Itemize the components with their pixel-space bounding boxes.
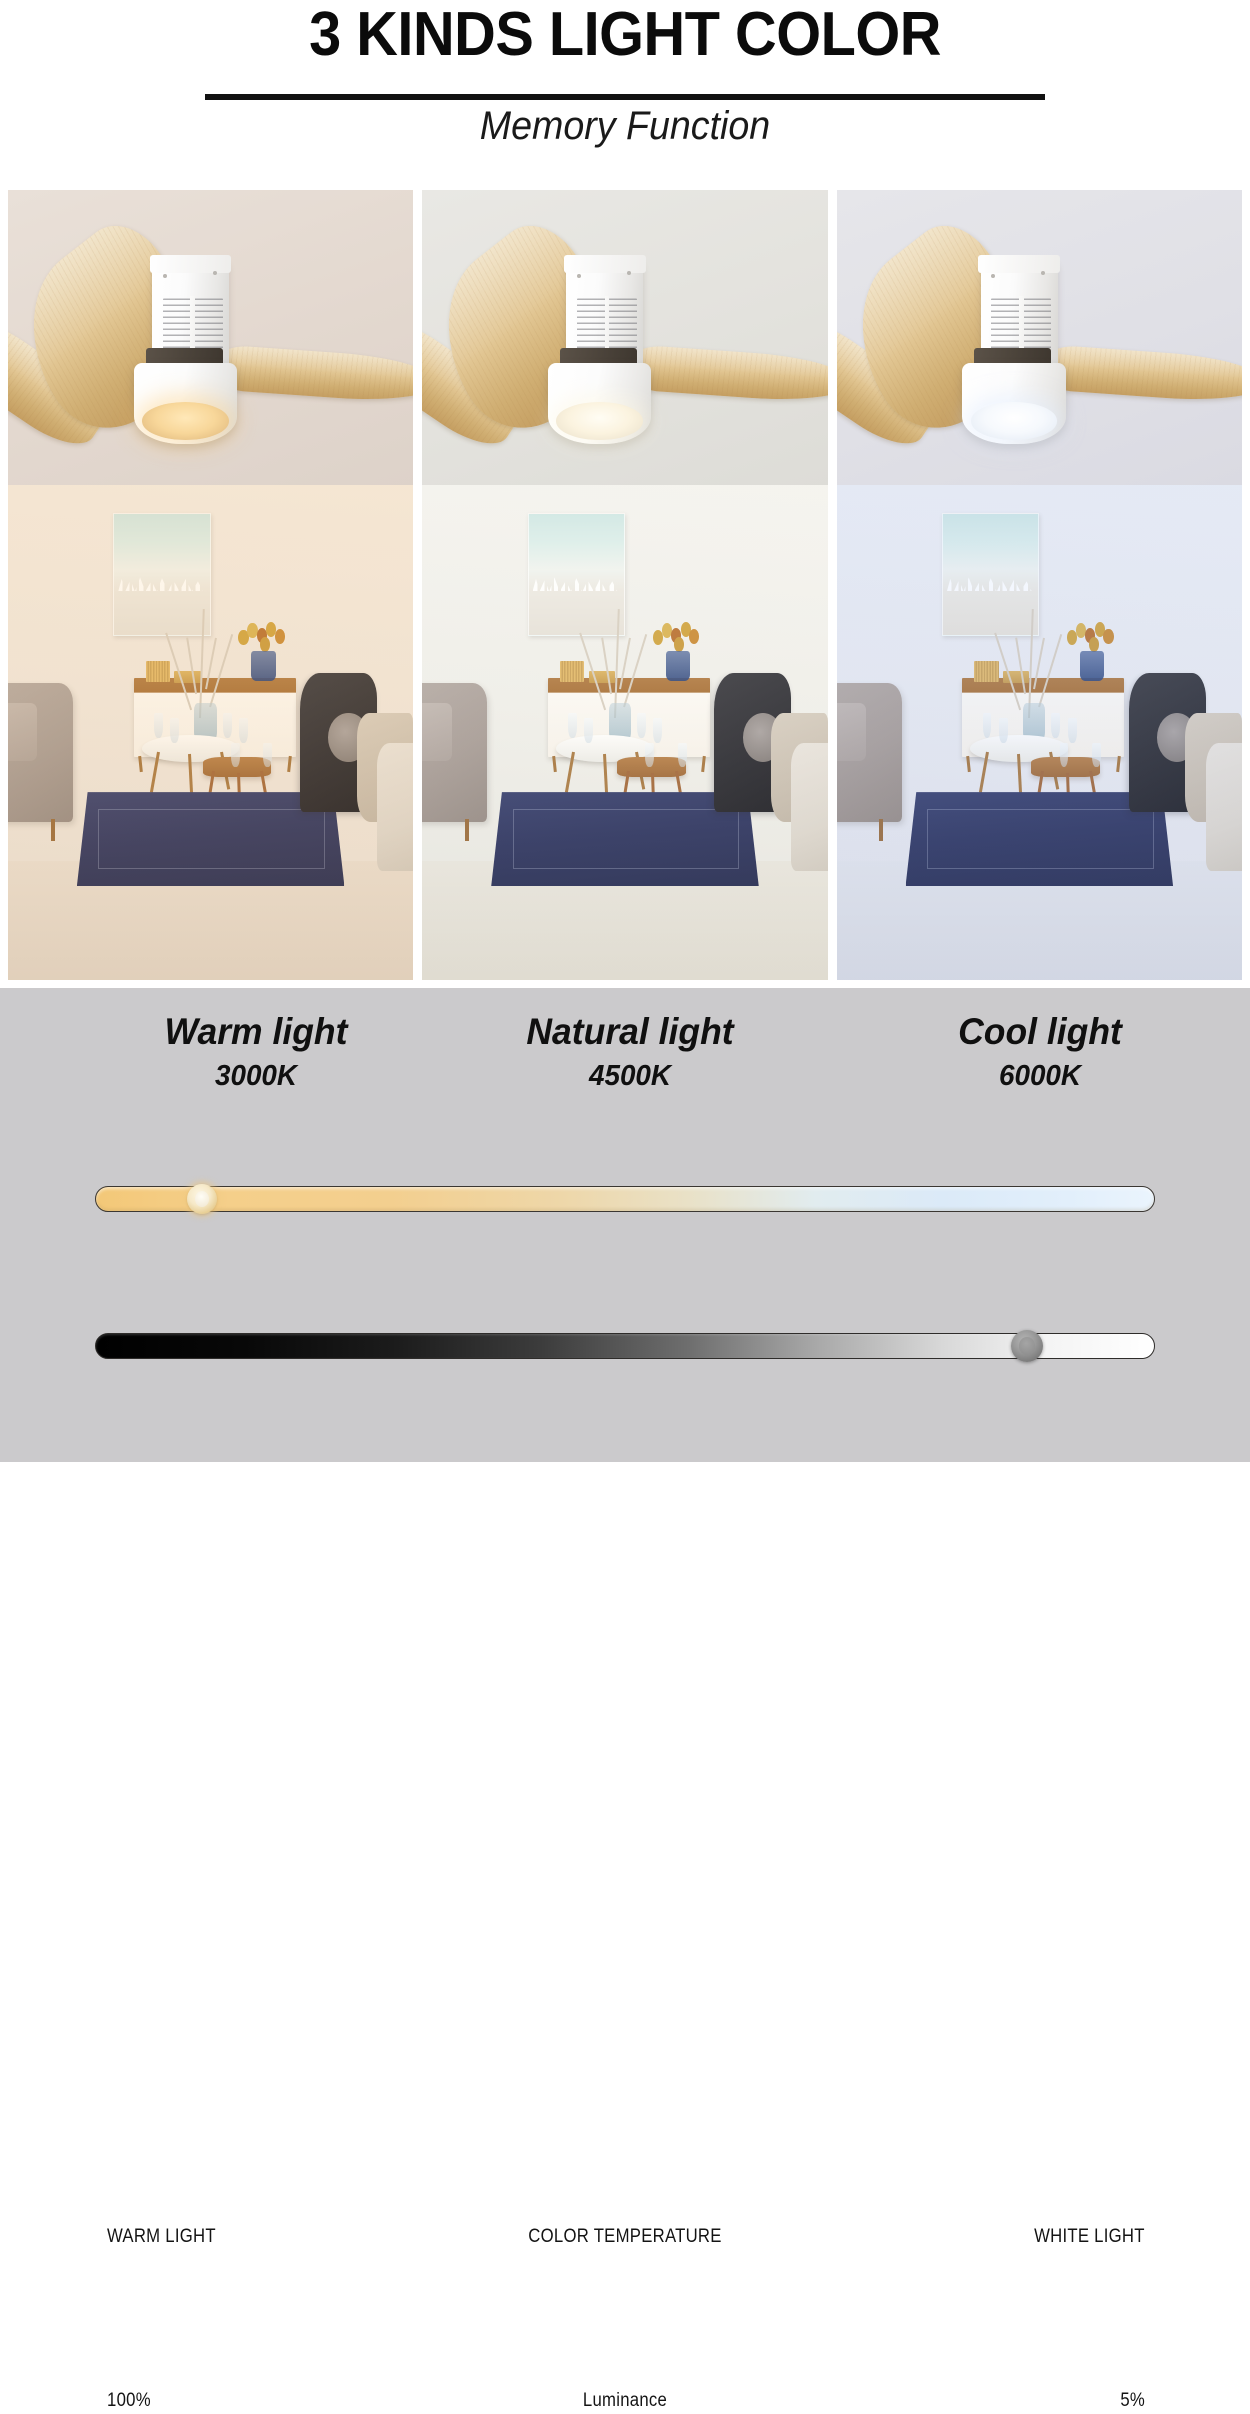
light-lens-icon bbox=[971, 402, 1058, 439]
dried-branch-decor bbox=[589, 609, 642, 718]
light-mode-kelvin: 6000K bbox=[886, 1058, 1193, 1096]
page-title: 3 KINDS LIGHT COLOR bbox=[44, 2, 1207, 67]
wine-glass bbox=[1092, 743, 1101, 768]
page-subtitle: Memory Function bbox=[38, 104, 1213, 149]
wine-glass bbox=[999, 718, 1008, 743]
color-temperature-min-label: WARM LIGHT bbox=[107, 2226, 216, 2248]
luminance-labels: 100% Luminance 5% bbox=[95, 2390, 1155, 2414]
cream-sofa-right bbox=[377, 743, 413, 872]
room-scene-cool bbox=[837, 485, 1242, 980]
light-mode-name: Cool light bbox=[886, 1010, 1193, 1054]
blue-glass-vase bbox=[666, 651, 690, 681]
books-stack-upright bbox=[146, 661, 170, 682]
luminance-thumb[interactable] bbox=[1011, 1330, 1043, 1362]
photo-panel-cool bbox=[837, 190, 1242, 980]
grey-sofa-left bbox=[422, 683, 487, 821]
ceiling-scene-natural bbox=[422, 190, 827, 490]
control-panel: Warm light 3000K Natural light 4500K Coo… bbox=[0, 988, 1250, 1462]
product-photo-strip bbox=[0, 190, 1250, 980]
grey-sofa-left bbox=[837, 683, 902, 821]
wine-glass bbox=[231, 743, 240, 768]
color-temperature-thumb[interactable] bbox=[187, 1184, 217, 1214]
header: 3 KINDS LIGHT COLOR Memory Function bbox=[0, 0, 1250, 188]
books-stack-upright bbox=[974, 661, 998, 682]
wine-glass bbox=[645, 743, 654, 768]
wine-glass bbox=[678, 743, 687, 768]
dried-branch-decor bbox=[1003, 609, 1056, 718]
blue-glass-vase bbox=[1080, 651, 1104, 681]
luminance-track[interactable] bbox=[95, 1333, 1155, 1359]
photo-panel-warm bbox=[8, 190, 413, 980]
wine-glass bbox=[223, 713, 232, 738]
wine-glass bbox=[263, 743, 272, 768]
light-module-warm bbox=[134, 363, 237, 444]
luminance-max-label: 100% bbox=[107, 2390, 151, 2412]
wine-glass bbox=[584, 718, 593, 743]
wine-glass bbox=[1068, 718, 1077, 743]
color-temperature-labels: WARM LIGHT COLOR TEMPERATURE WHITE LIGHT bbox=[95, 2226, 1155, 2250]
light-mode-cool: Cool light 6000K bbox=[880, 1010, 1200, 1095]
light-module-cool bbox=[962, 363, 1065, 444]
color-temperature-max-label: WHITE LIGHT bbox=[1034, 2226, 1145, 2248]
dried-branch-decor bbox=[174, 609, 227, 718]
wine-glass bbox=[637, 713, 646, 738]
cream-sofa-right bbox=[1206, 743, 1242, 872]
wine-glass bbox=[154, 713, 163, 738]
luminance-min-label: 5% bbox=[1120, 2390, 1145, 2412]
room-scene-warm bbox=[8, 485, 413, 980]
wine-glass bbox=[1051, 713, 1060, 738]
wine-glass bbox=[170, 718, 179, 743]
color-temperature-title-label: COLOR TEMPERATURE bbox=[528, 2226, 721, 2248]
room-scene-natural bbox=[422, 485, 827, 980]
light-mode-kelvin: 4500K bbox=[476, 1058, 783, 1096]
wine-glass bbox=[568, 713, 577, 738]
color-temperature-track[interactable] bbox=[95, 1186, 1155, 1212]
books-stack-upright bbox=[560, 661, 584, 682]
light-mode-labels: Warm light 3000K Natural light 4500K Coo… bbox=[0, 1010, 1250, 1100]
light-mode-natural: Natural light 4500K bbox=[470, 1010, 790, 1095]
title-divider bbox=[205, 94, 1045, 100]
cream-sofa-right bbox=[791, 743, 827, 872]
ceiling-scene-cool bbox=[837, 190, 1242, 490]
color-temperature-slider[interactable] bbox=[95, 1186, 1155, 1212]
photo-panel-natural bbox=[422, 190, 827, 980]
light-mode-kelvin: 3000K bbox=[102, 1058, 409, 1096]
wine-glass bbox=[653, 718, 662, 743]
luminance-slider[interactable] bbox=[95, 1333, 1155, 1359]
light-module-natural bbox=[548, 363, 651, 444]
grey-sofa-left bbox=[8, 683, 73, 821]
ceiling-scene-warm bbox=[8, 190, 413, 490]
light-lens-icon bbox=[142, 402, 229, 439]
light-mode-warm: Warm light 3000K bbox=[96, 1010, 416, 1095]
light-mode-name: Warm light bbox=[102, 1010, 409, 1054]
luminance-title-label: Luminance bbox=[583, 2390, 667, 2412]
light-mode-name: Natural light bbox=[476, 1010, 783, 1054]
blue-glass-vase bbox=[251, 651, 275, 681]
wine-glass bbox=[983, 713, 992, 738]
wine-glass bbox=[239, 718, 248, 743]
light-lens-icon bbox=[556, 402, 643, 439]
